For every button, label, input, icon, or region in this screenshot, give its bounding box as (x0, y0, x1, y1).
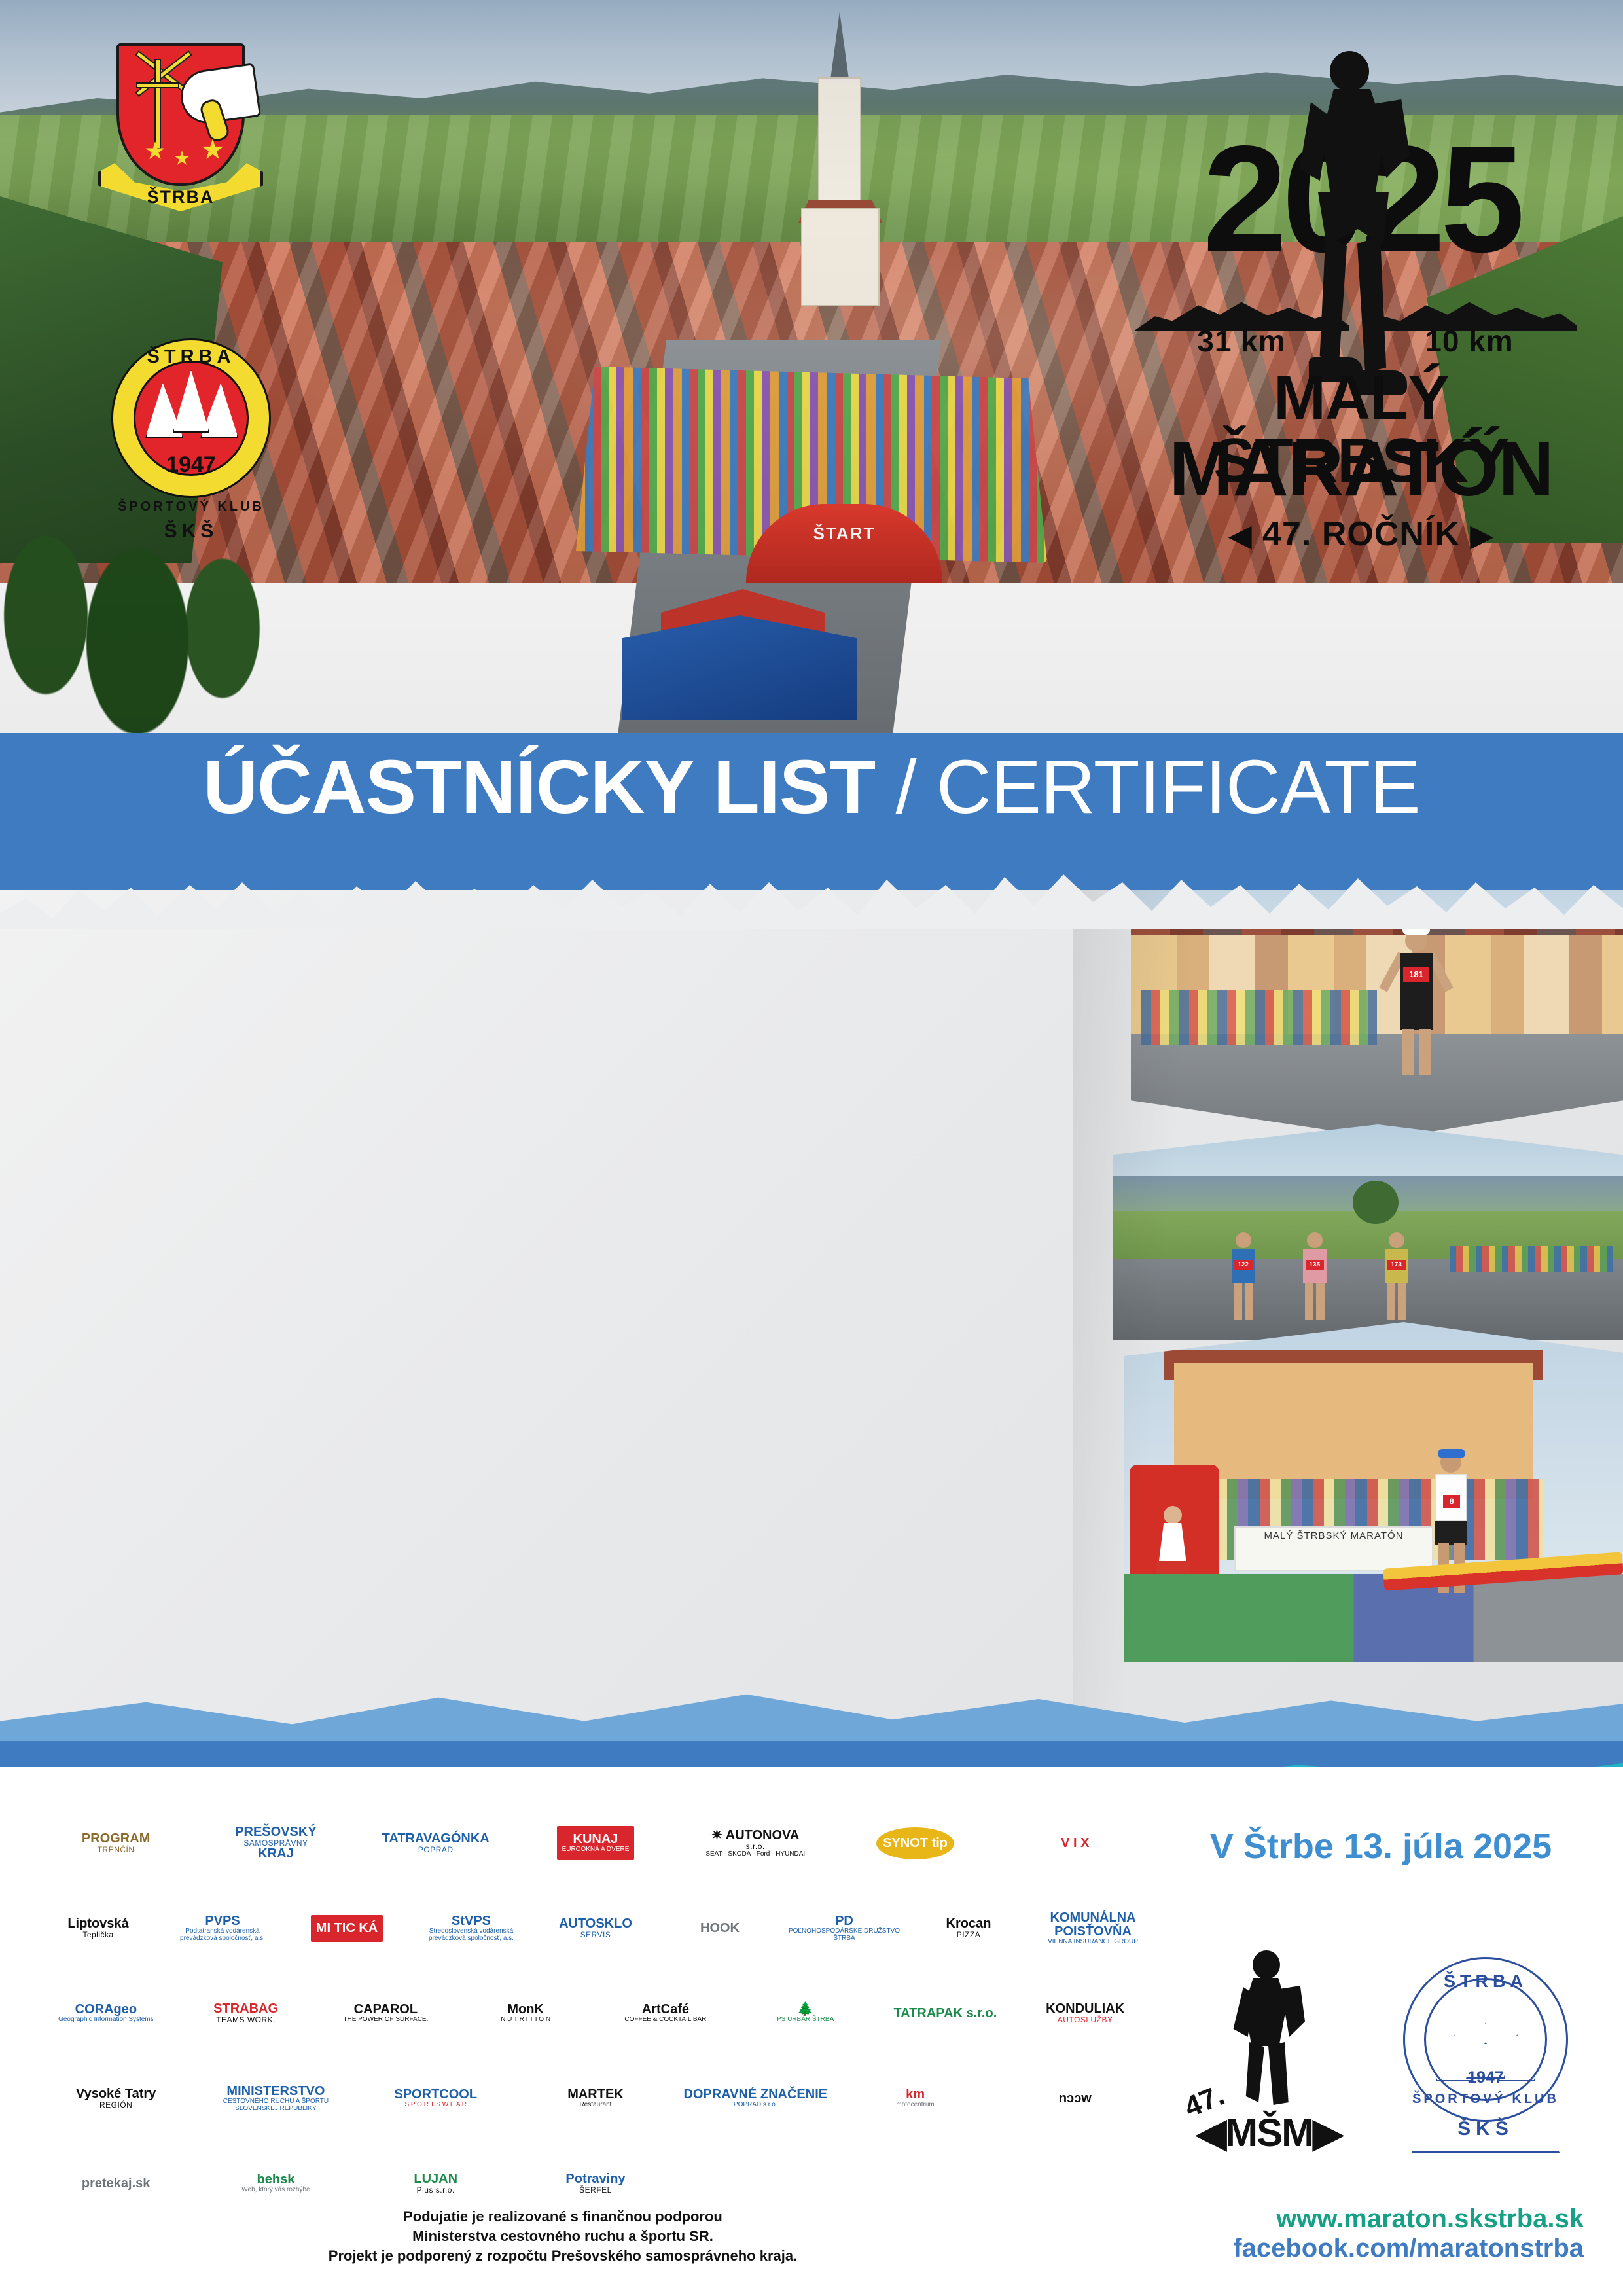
photo-runner-figure: 135 (1296, 1232, 1332, 1324)
page-title: ÚČASTNÍCKY LIST / CERTIFICATE (0, 747, 1623, 826)
sponsor-autonova[interactable]: ✷ AUTONOVAs.r.o.SEAT · ŠKODA · Ford · HY… (679, 1806, 832, 1880)
stamp-year: 1947 (1387, 2068, 1584, 2087)
event-logotype: 2025 31 km 10 km MALÝ ŠTRBSKÝ MARATÓN ◀4… (1126, 39, 1597, 602)
runner-leg-left (1305, 1283, 1313, 1320)
runner-bib-number: 122 (1234, 1260, 1253, 1270)
photo-runner-figure: 181 (1387, 924, 1446, 1088)
contact-links: www.maraton.skstrba.sk facebook.com/mara… (1165, 2204, 1584, 2263)
sks-club-logo: 1947 ŠTRBA ŠPORTOVÝ KLUB ŠKŠ (105, 324, 277, 545)
club-bottom-text: ŠKŠ (105, 520, 277, 543)
sponsor-program-trencin[interactable]: PROGRAMTRENČÍN (39, 1806, 192, 1880)
sponsor-ministerstvo-cestovneho-ruchu-a-sportu-sr[interactable]: MINISTERSTVOCESTOVNÉHO RUCHU A ŠPORTU SL… (199, 2062, 352, 2135)
sponsor-pd-strba[interactable]: PDPOĽNOHOSPODÁRSKE DRUŽSTVO ŠTRBA (785, 1892, 903, 1965)
winner-crossing-finish-line-photo: MALÝ ŠTRBSKÝ MARATÓN 8 (1124, 1322, 1623, 1662)
sponsor-martek-restaurant[interactable]: MARTEKRestaurant (519, 2062, 672, 2135)
sponsor-komunalna-poistovna[interactable]: KOMUNÁLNA POISŤOVŇAVIENNA INSURANCE GROU… (1034, 1892, 1152, 1965)
msm-leg-right (1268, 2042, 1289, 2105)
funding-footnote: Podujatie je realizované s finančnou pod… (52, 2207, 1073, 2266)
msm-torso (1245, 1978, 1287, 2046)
event-title-line2: MARATÓN (1126, 431, 1597, 508)
title-slovak: ÚČASTNÍCKY LIST (203, 744, 875, 829)
sponsor-monk-nutrition[interactable]: MonKN U T R I T I O N (459, 1977, 592, 2050)
mountain-icon-long-course: 31 km (1133, 292, 1349, 351)
winner-headband (1438, 1449, 1465, 1458)
arrow-right-icon: ▶ (1460, 520, 1504, 552)
website-url[interactable]: www.maraton.skstrba.sk (1165, 2204, 1584, 2234)
winner-shorts (1435, 1521, 1467, 1545)
sponsor-konduliak-autosluzby[interactable]: KONDULIAKAUTOSLUŽBY (1018, 1977, 1152, 2050)
distance-short-label: 10 km (1361, 323, 1577, 359)
sponsor-logo-grid: PROGRAMTRENČÍN PREŠOVSKÝSAMOSPRÁVNYKRAJ … (39, 1806, 1152, 2232)
sponsor-vix[interactable]: V I X (999, 1806, 1152, 1880)
runner-head (1389, 1232, 1404, 1248)
msm-runner-icon (1230, 1950, 1302, 2101)
photo-road (1131, 1034, 1623, 1139)
runner-leg-right (1419, 1029, 1431, 1075)
runner-leg-right (1316, 1283, 1325, 1320)
photo-runner-figure: 173 (1378, 1232, 1414, 1324)
title-separator: / (875, 744, 936, 829)
runner-head (1236, 1232, 1251, 1248)
crest-staff-center (154, 59, 161, 149)
crest-crossbar (136, 82, 179, 88)
event-edition-row: ◀47. ROČNÍK▶ (1126, 514, 1597, 554)
photo-spectators (1141, 990, 1377, 1045)
torn-paper-edge (0, 851, 1623, 929)
sponsor-tatravagonka-poprad[interactable]: TATRAVAGÓNKAPOPRAD (359, 1806, 512, 1880)
girl-head (1164, 1506, 1182, 1524)
photo-event-banner: MALÝ ŠTRBSKÝ MARATÓN (1234, 1526, 1434, 1571)
sponsor-pvps[interactable]: PVPSPodtatranská vodárenská prevádzková … (164, 1892, 281, 1965)
msm-head (1253, 1950, 1280, 1979)
photo-runner-pack (1450, 1246, 1613, 1272)
sponsor-krocan-pizza[interactable]: KrocanPIZZA (910, 1892, 1027, 1965)
runner-bib-number: 173 (1387, 1260, 1406, 1270)
sponsor-ps-urbar-strba[interactable]: 🌲PS URBÁR ŠTRBA (739, 1977, 872, 2050)
arrow-left-icon: ◀ (1219, 520, 1262, 552)
sponsor-sportcool[interactable]: SPORTCOOLS P O R T S W E A R (359, 2062, 512, 2135)
runner-head (1330, 51, 1369, 92)
sponsor-autosklo-servis[interactable]: AUTOSKLOSERVIS (537, 1892, 654, 1965)
peak-center (173, 370, 209, 433)
certificate-page: ŠTART ŠTRBA 1947 ŠTRBA (0, 0, 1623, 2296)
msm-edition-mark: 47. ◀MŠM▶ (1185, 1950, 1342, 2153)
sponsor-kunaj[interactable]: KUNAJEUROOKNÁ A DVERE (519, 1806, 672, 1880)
sponsor-stvps[interactable]: StVPSStredoslovenská vodárenská prevádzk… (412, 1892, 530, 1965)
club-mid-text: ŠPORTOVÝ KLUB (105, 499, 277, 514)
sponsor-row: CORAgeoGeographic Information Systems ST… (39, 1977, 1152, 2050)
runners-on-country-road-photo: 122 135 173 (1113, 1124, 1623, 1340)
photo-finish-carpet (1124, 1574, 1623, 1662)
stamp-arc-text: ŠPORTOVÝ KLUB (1387, 2092, 1584, 2107)
crest-ribbon-text: ŠTRBA (98, 187, 263, 207)
sponsor-row: LiptovskáTeplička PVPSPodtatranská vodár… (39, 1892, 1152, 1965)
runner-shorts (1400, 1004, 1433, 1030)
runner-leg-right (1398, 1283, 1406, 1320)
msm-leg-left (1245, 2042, 1264, 2102)
runner-leg-left (1402, 1029, 1414, 1075)
runner-bib-number: 135 (1306, 1260, 1324, 1270)
event-edition-label: 47. ROČNÍK (1262, 515, 1460, 553)
stamp-bottom-text: ŠKŠ (1387, 2118, 1584, 2140)
sponsor-km-motocentrum[interactable]: kmmotocentrum (838, 2062, 991, 2135)
sponsor-artcafe[interactable]: ArtCaféCOFFEE & COCKTAIL BAR (599, 1977, 732, 2050)
stamp-top-text: ŠTRBA (1387, 1971, 1584, 1992)
strba-crest-logo: ŠTRBA (98, 31, 263, 228)
photo-lone-tree (1353, 1181, 1399, 1224)
facebook-url[interactable]: facebook.com/maratonstrba (1165, 2234, 1584, 2263)
photo-collage: 181 122 135 (1113, 864, 1623, 1734)
footnote-line-1: Podujatie je realizované s finančnou pod… (52, 2207, 1073, 2227)
runner-head (1307, 1232, 1323, 1248)
footnote-line-3: Projekt je podporený z rozpočtu Prešovsk… (52, 2246, 1073, 2266)
sponsor-presovsky-samospravny-kraj[interactable]: PREŠOVSKÝSAMOSPRÁVNYKRAJ (199, 1806, 352, 1880)
mountain-icon-short-course: 10 km (1361, 292, 1577, 351)
photo-runner-figure: 122 (1225, 1232, 1260, 1324)
sponsor-tatrapak[interactable]: TATRAPAK s.r.o. (879, 1977, 1012, 2050)
sponsor-row: Vysoké TatryREGIÓN MINISTERSTVOCESTOVNÉH… (39, 2062, 1152, 2135)
club-stamp-mark: ŠTRBA 1947 ŠPORTOVÝ KLUB ŠKŠ (1387, 1944, 1584, 2160)
runner-torso (1319, 89, 1385, 200)
sponsor-corageo[interactable]: CORAgeoGeographic Information Systems (39, 1977, 173, 2050)
sponsor-dopravne-znacenie-poprad[interactable]: DOPRAVNÉ ZNAČENIEPOPRAD s.r.o. (679, 2062, 832, 2135)
runner-leg-left (1234, 1283, 1242, 1320)
sponsor-noow[interactable]: nɔɔw (999, 2062, 1152, 2135)
sponsor-strabag[interactable]: STRABAGTEAMS WORK. (179, 1977, 313, 2050)
runner-bib-number: 181 (1403, 967, 1429, 982)
banner-text: MALÝ ŠTRBSKÝ MARATÓN (1236, 1528, 1433, 1570)
distance-long-label: 31 km (1133, 323, 1349, 359)
winner-bib-number: 8 (1443, 1495, 1460, 1508)
sponsor-miticka[interactable]: MI TIC KÁ (288, 1892, 406, 1965)
runner-leg-left (1387, 1283, 1395, 1320)
sponsor-caparol[interactable]: CAPAROLTHE POWER OF SURFACE. (319, 1977, 453, 2050)
sponsor-hook[interactable]: HOOK (661, 1892, 779, 1965)
sponsor-vysoke-tatry-region[interactable]: Vysoké TatryREGIÓN (39, 2062, 192, 2135)
event-date: V Štrbe 13. júla 2025 (1178, 1826, 1584, 1867)
title-english: CERTIFICATE (936, 744, 1420, 829)
sponsor-synot-tip[interactable]: SYNOT tip (838, 1806, 991, 1880)
sponsor-row: PROGRAMTRENČÍN PREŠOVSKÝSAMOSPRÁVNYKRAJ … (39, 1806, 1152, 1880)
club-mountain-peaks (143, 370, 240, 440)
footnote-line-2: Ministerstva cestovného ruchu a športu S… (52, 2227, 1073, 2246)
sponsor-liptovska-teplicka[interactable]: LiptovskáTeplička (39, 1892, 157, 1965)
msm-wordmark: ◀MŠM▶ (1196, 2110, 1342, 2156)
club-top-text: ŠTRBA (105, 346, 277, 368)
runner-silhouette-icon (1289, 39, 1414, 419)
club-founding-year: 1947 (134, 452, 249, 478)
runner-leg-right (1245, 1283, 1253, 1320)
